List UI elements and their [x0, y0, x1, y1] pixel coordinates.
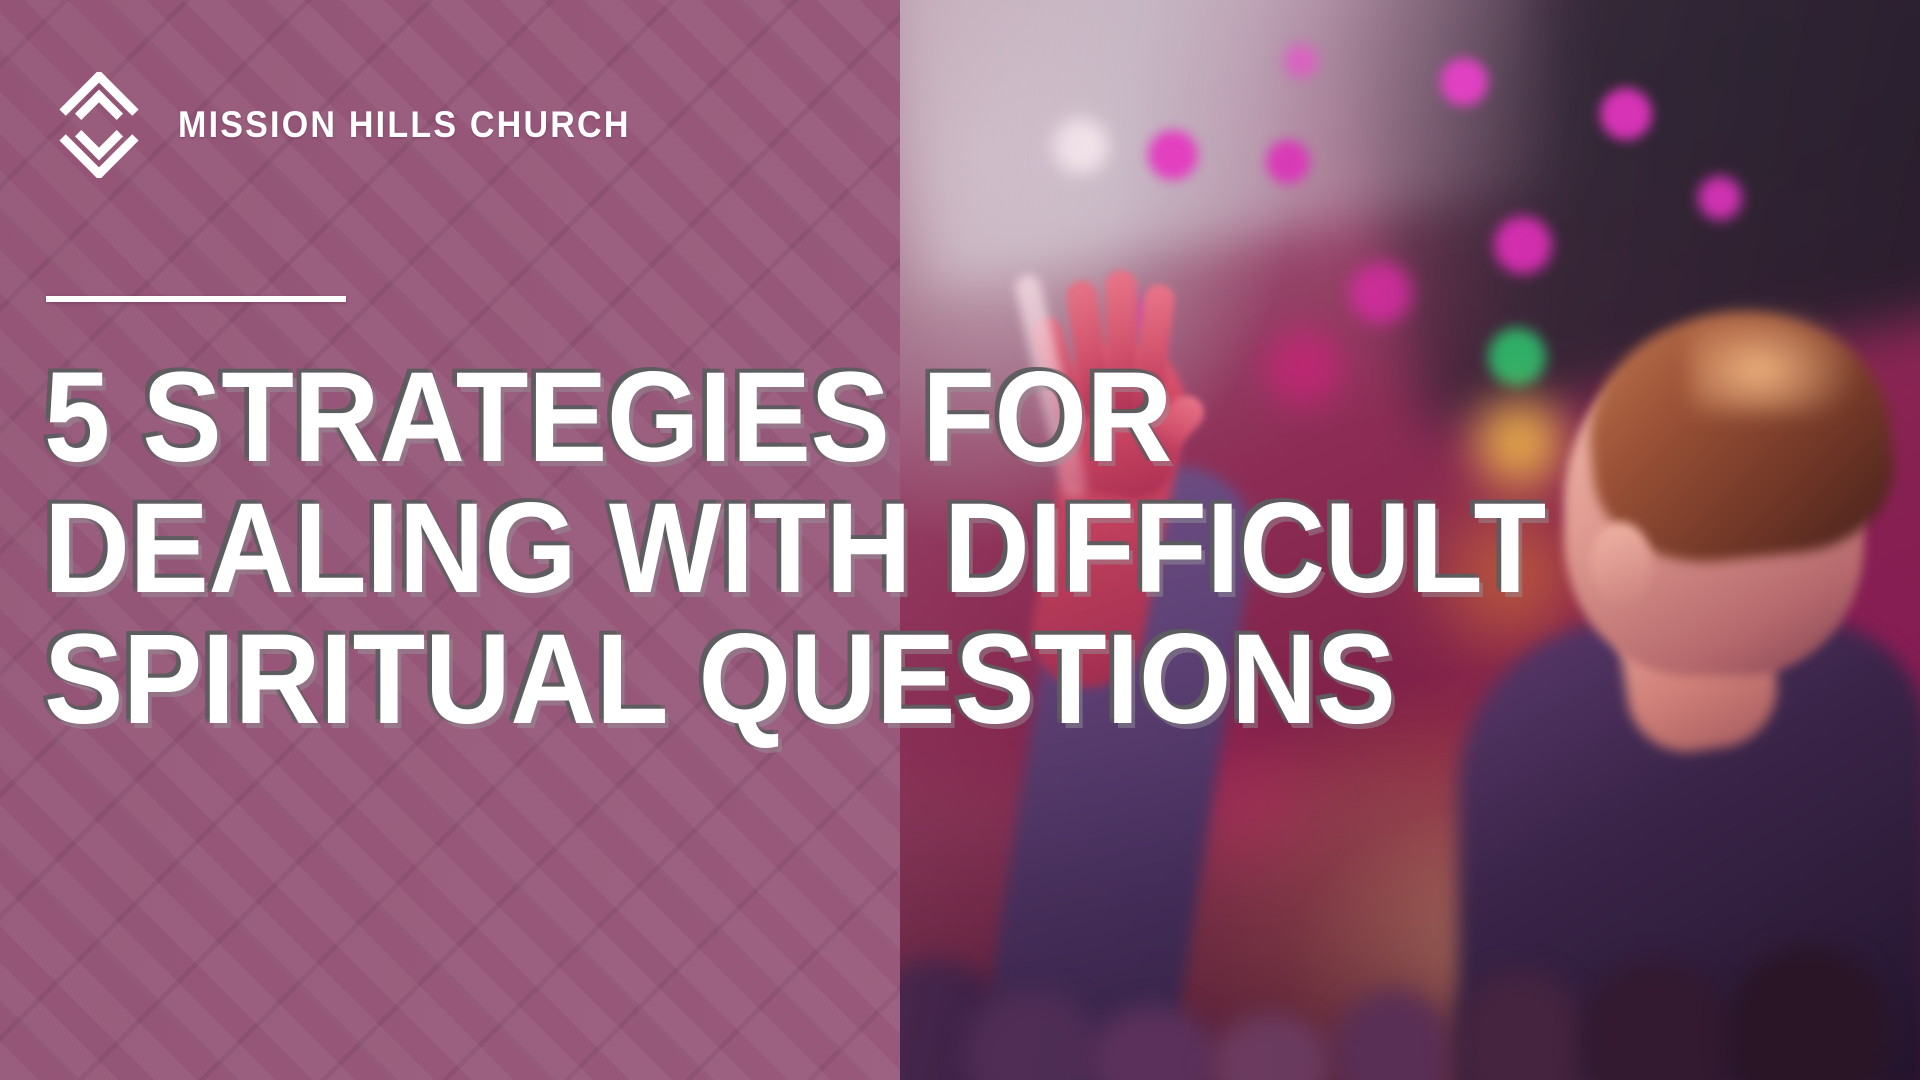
brand-name: MISSION HILLS CHURCH	[178, 104, 631, 146]
logo-lockup[interactable]: MISSION HILLS CHURCH	[46, 72, 670, 178]
headline-line-3: SPIRITUAL QUESTIONS	[44, 614, 1746, 745]
headline-line-1: 5 STRATEGIES FOR	[44, 352, 1746, 483]
woven-diamond-logo-icon	[46, 72, 152, 178]
headline-line-2: DEALING WITH DIFFICULT	[44, 483, 1746, 614]
horizontal-rule	[46, 296, 346, 302]
headline: 5 STRATEGIES FOR DEALING WITH DIFFICULT …	[44, 352, 1874, 745]
sermon-title-graphic: MISSION HILLS CHURCH 5 STRATEGIES FOR DE…	[0, 0, 1920, 1080]
